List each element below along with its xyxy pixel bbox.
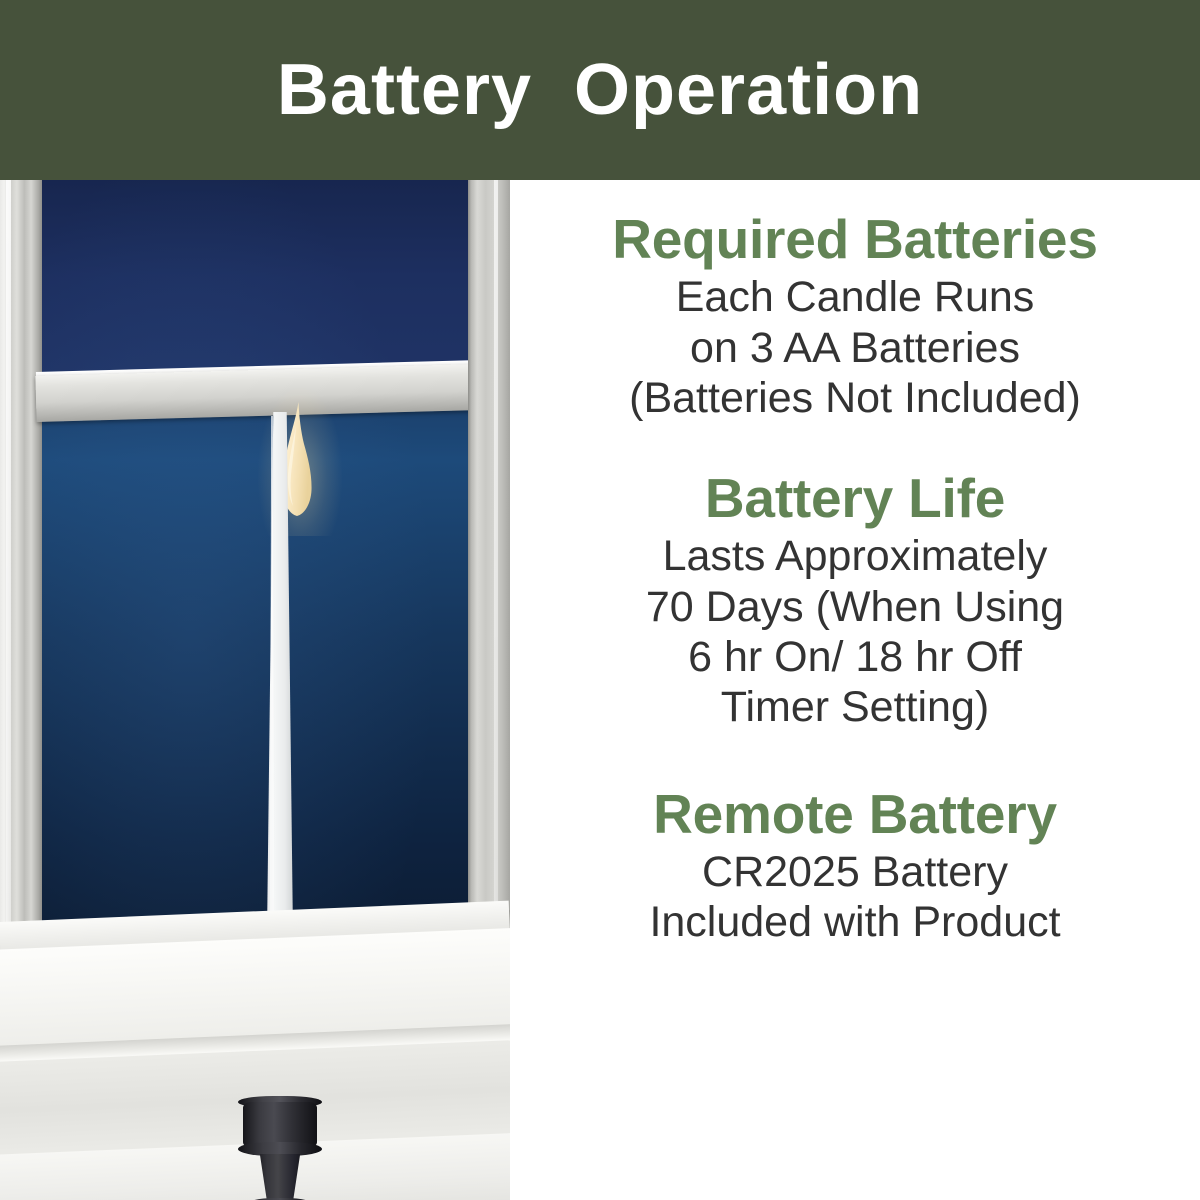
section-battery-life: Battery Life Lasts Approximately 70 Days… [510,469,1200,732]
holder-ring-middle [238,1142,322,1156]
header-banner: Battery Operation [0,0,1200,180]
section-title-remote-battery: Remote Battery [528,785,1182,843]
specs-panel: Required Batteries Each Candle Runs on 3… [510,180,1200,1200]
section-body-battery-life: Lasts Approximately 70 Days (When Using … [528,531,1182,732]
section-body-required-batteries: Each Candle Runs on 3 AA Batteries (Batt… [528,272,1182,423]
page-title: Battery Operation [277,54,923,126]
section-remote-battery: Remote Battery CR2025 Battery Included w… [510,785,1200,948]
section-body-remote-battery: CR2025 Battery Included with Product [528,847,1182,948]
section-title-required-batteries: Required Batteries [528,210,1182,268]
section-required-batteries: Required Batteries Each Candle Runs on 3… [510,210,1200,423]
product-photo [0,180,510,1200]
infographic-page: Battery Operation [0,0,1200,1200]
section-title-battery-life: Battery Life [528,469,1182,527]
